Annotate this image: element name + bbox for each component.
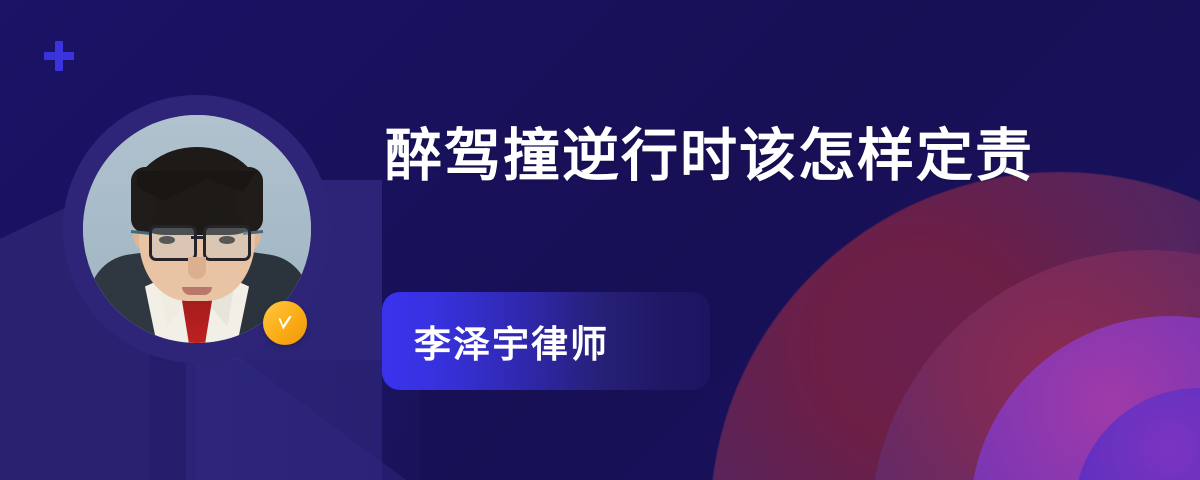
portrait-mouth: [182, 287, 212, 295]
geo-panel-e: [0, 360, 420, 480]
portrait-glasses-bridge: [191, 236, 203, 239]
avatar[interactable]: [63, 95, 331, 363]
page-title: 醉驾撞逆行时该怎样定责: [385, 124, 1034, 190]
portrait-glasses-lens-left: [149, 225, 197, 261]
plus-icon-vertical-bar: [55, 41, 63, 71]
verified-check-icon[interactable]: [263, 301, 307, 345]
author-name-label: 李泽宇律师: [414, 314, 609, 368]
author-name-badge[interactable]: 李泽宇律师: [382, 292, 710, 390]
portrait-nose: [188, 257, 206, 279]
lawyer-article-banner: 醉驾撞逆行时该怎样定责 李泽宇律师: [0, 0, 1200, 480]
portrait-glasses-lens-right: [203, 225, 251, 261]
plus-icon: [44, 41, 74, 71]
